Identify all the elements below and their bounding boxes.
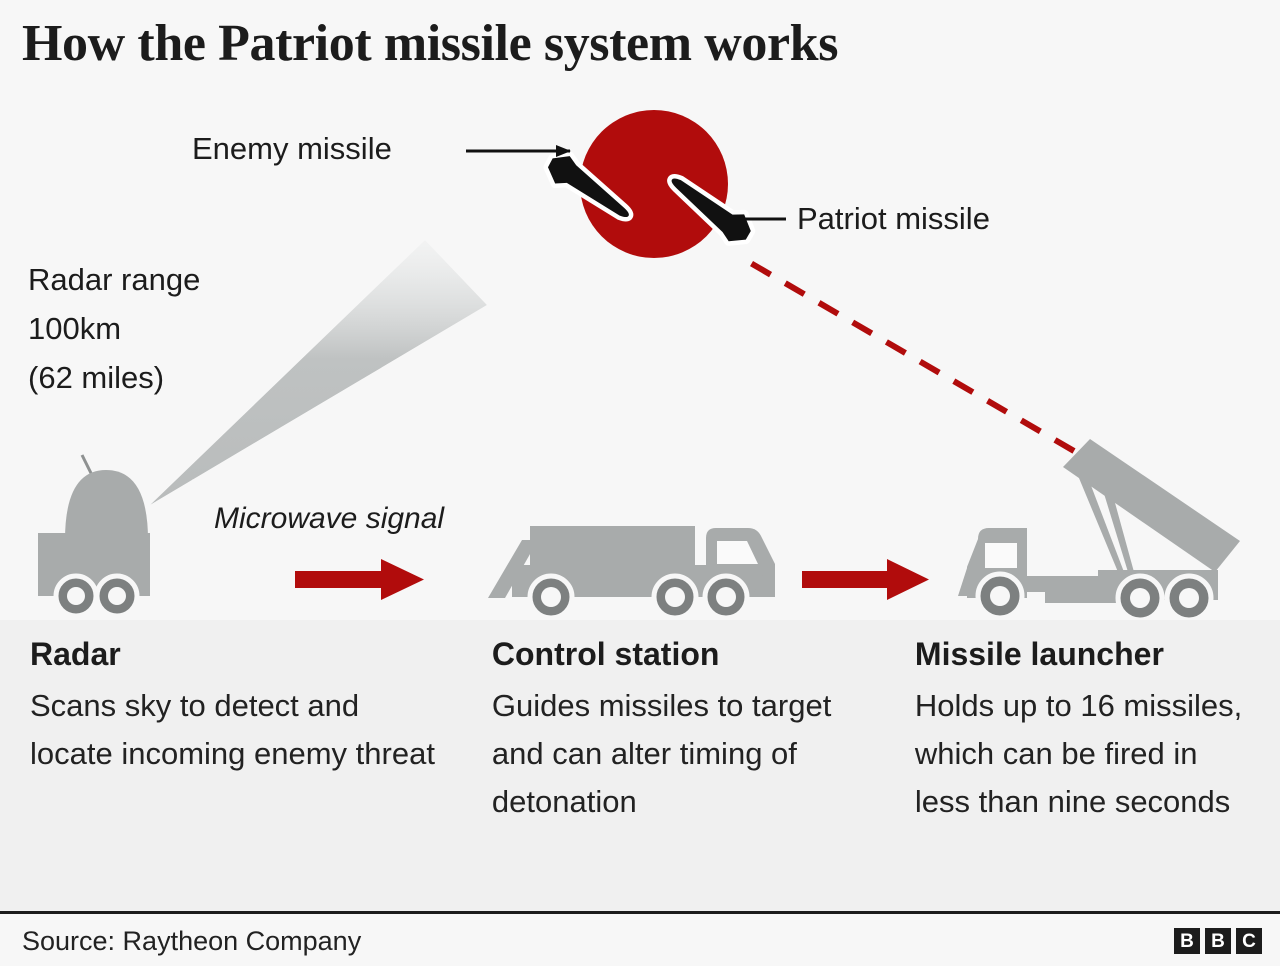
bbc-logo-letter-3: C	[1236, 928, 1262, 954]
column-heading-control-station: Control station	[492, 636, 871, 673]
column-body-control-station: Guides missiles to target and can alter …	[492, 682, 871, 826]
infographic-root: How the Patriot missile system works	[0, 0, 1280, 966]
flow-arrow-2-icon	[802, 559, 929, 600]
radar-unit-icon	[38, 455, 150, 616]
radar-range-line-3: (62 miles)	[28, 353, 200, 402]
patriot-missile-label: Patriot missile	[797, 201, 990, 237]
radar-range-label: Radar range 100km (62 miles)	[28, 255, 200, 402]
bbc-logo-letter-1: B	[1174, 928, 1200, 954]
column-heading-radar: Radar	[30, 636, 438, 673]
radar-beam-icon	[150, 240, 534, 620]
microwave-signal-label: Microwave signal	[214, 502, 444, 536]
description-column-radar: Radar Scans sky to detect and locate inc…	[0, 636, 462, 826]
source-text: Source: Raytheon Company	[22, 926, 361, 957]
bbc-logo: B B C	[1174, 928, 1262, 954]
description-column-missile-launcher: Missile launcher Holds up to 16 missiles…	[895, 636, 1280, 826]
description-column-control-station: Control station Guides missiles to targe…	[462, 636, 895, 826]
description-columns: Radar Scans sky to detect and locate inc…	[0, 636, 1280, 826]
missile-launcher-icon	[958, 439, 1240, 620]
enemy-missile-label: Enemy missile	[192, 131, 392, 167]
column-heading-missile-launcher: Missile launcher	[915, 636, 1256, 673]
column-body-radar: Scans sky to detect and locate incoming …	[30, 682, 438, 778]
bbc-logo-letter-2: B	[1205, 928, 1231, 954]
flow-arrow-1-icon	[295, 559, 424, 600]
radar-range-line-1: Radar range	[28, 255, 200, 304]
control-station-icon	[488, 526, 775, 618]
column-body-missile-launcher: Holds up to 16 missiles, which can be fi…	[915, 682, 1256, 826]
radar-range-line-2: 100km	[28, 304, 200, 353]
missile-trajectory-line	[742, 258, 1074, 451]
